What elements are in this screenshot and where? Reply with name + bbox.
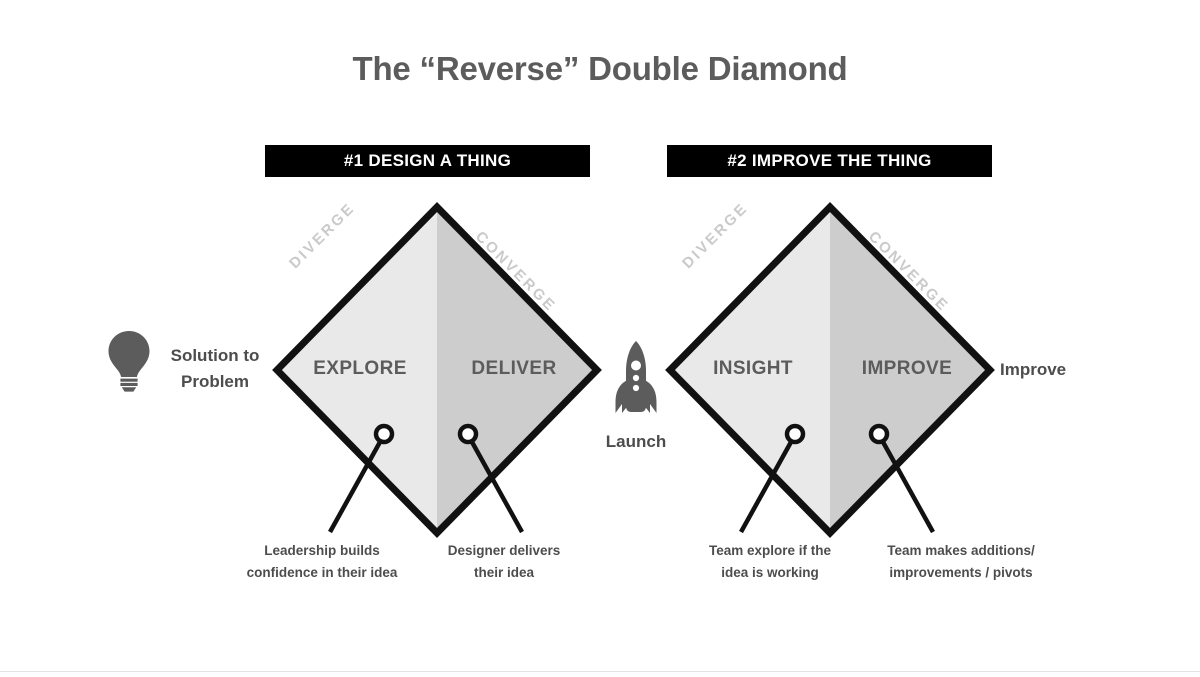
diamond-improve-the-thing: DIVERGE CONVERGE INSIGHT IMPROVE	[665, 202, 995, 538]
caption-designer-delivers: Designer delivers their idea	[425, 540, 583, 584]
rocket-icon	[614, 340, 658, 418]
caption-team-additions: Team makes additions/ improvements / piv…	[868, 540, 1054, 584]
launch-label: Launch	[575, 432, 697, 452]
diamond-design-a-thing: DIVERGE CONVERGE EXPLORE DELIVER	[272, 202, 602, 538]
lightbulb-icon	[107, 330, 151, 392]
diagram-canvas: The “Reverse” Double Diamond #1 DESIGN A…	[0, 0, 1200, 677]
start-label-solution-to-problem: Solution to Problem	[156, 343, 274, 396]
stage-label-improve: IMPROVE	[837, 358, 977, 380]
stage-label-insight: INSIGHT	[683, 358, 823, 380]
phase-banner-improve-the-thing: #2 IMPROVE THE THING	[667, 145, 992, 177]
phase-banner-design-a-thing: #1 DESIGN A THING	[265, 145, 590, 177]
caption-team-explore: Team explore if the idea is working	[680, 540, 860, 584]
page-title: The “Reverse” Double Diamond	[0, 50, 1200, 88]
caption-leadership-confidence: Leadership builds confidence in their id…	[228, 540, 416, 584]
footer-divider	[0, 671, 1200, 672]
stage-label-deliver: DELIVER	[444, 358, 584, 380]
stage-label-explore: EXPLORE	[290, 358, 430, 380]
end-label-improve: Improve	[1000, 360, 1066, 380]
